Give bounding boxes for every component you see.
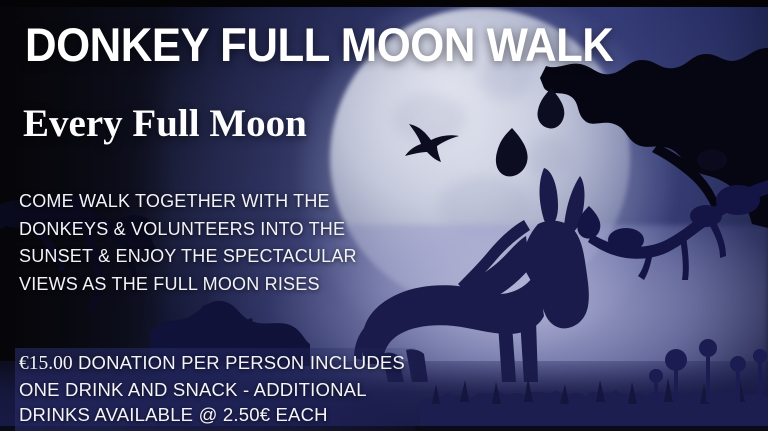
falling-leaf-silhouette bbox=[576, 206, 602, 240]
falling-leaf-silhouette bbox=[536, 88, 566, 130]
donation-line-1: €15.00 DONATION PER PERSON INCLUDES bbox=[19, 350, 405, 377]
donation-line-2: ONE DRINK AND SNACK - ADDITIONAL bbox=[19, 377, 405, 403]
falling-leaf-silhouette bbox=[494, 128, 530, 178]
body-line: SUNSET & ENJOY THE SPECTACULAR bbox=[19, 243, 357, 271]
donkey-full-moon-walk-poster: DONKEY FULL MOON WALK Every Full Moon CO… bbox=[0, 0, 768, 431]
body-copy: COME WALK TOGETHER WITH THE DONKEYS & VO… bbox=[19, 188, 357, 298]
flying-bird-silhouette bbox=[405, 122, 459, 164]
donation-price: €15.00 bbox=[19, 353, 73, 374]
body-line: VIEWS AS THE FULL MOON RISES bbox=[19, 271, 357, 299]
subtitle: Every Full Moon bbox=[23, 104, 307, 143]
flower-silhouette bbox=[648, 338, 768, 408]
tree-branch-silhouette-right bbox=[588, 176, 768, 306]
page-title: DONKEY FULL MOON WALK bbox=[25, 21, 613, 68]
body-line: COME WALK TOGETHER WITH THE bbox=[19, 188, 357, 216]
donation-info: €15.00 DONATION PER PERSON INCLUDES ONE … bbox=[15, 348, 415, 431]
donation-line-3: DRINKS AVAILABLE @ 2.50€ EACH bbox=[19, 402, 405, 428]
body-line: DONKEYS & VOLUNTEERS INTO THE bbox=[19, 216, 357, 244]
donation-line-1-rest: DONATION PER PERSON INCLUDES bbox=[73, 352, 405, 373]
top-edge-band bbox=[0, 0, 768, 7]
